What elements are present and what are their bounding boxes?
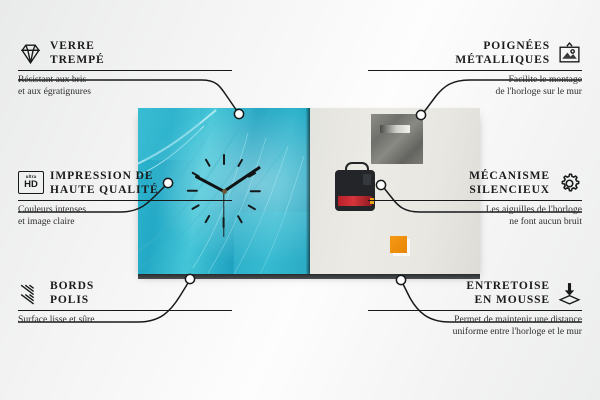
hanger-slot (380, 125, 410, 133)
battery (338, 196, 372, 206)
feature-title: VERRETREMPÉ (50, 40, 105, 67)
arrow-into-slab-icon (557, 281, 582, 306)
diamond-icon (18, 41, 43, 66)
feature-heading: MÉCANISMESILENCIEUX (368, 170, 582, 197)
feature-callout-mecanisme-silencieux: MÉCANISMESILENCIEUX Les aiguilles de l'h… (368, 170, 582, 228)
feature-title: ENTRETOISEEN MOUSSE (466, 280, 550, 307)
feature-rule (368, 310, 582, 311)
feature-heading: ultra HD IMPRESSION DEHAUTE QUALITÉ (18, 170, 232, 197)
feature-heading: ENTRETOISEEN MOUSSE (368, 280, 582, 307)
foam-spacer (390, 236, 407, 253)
feature-description: Résistant aux briset aux égratignures (18, 74, 232, 97)
feature-rule (18, 310, 232, 311)
feature-description: Facilite le montagede l'horloge sur le m… (368, 74, 582, 97)
feature-callout-entretoise-en-mousse: ENTRETOISEEN MOUSSE Permet de maintenir … (368, 280, 582, 338)
feature-heading: BORDSPOLIS (18, 280, 232, 307)
feature-description: Les aiguilles de l'horlogene font aucun … (368, 204, 582, 227)
feature-title: MÉCANISMESILENCIEUX (469, 170, 550, 197)
feature-title: POIGNÉESMÉTALLIQUES (455, 40, 550, 67)
feature-rule (18, 70, 232, 71)
feature-rule (18, 200, 232, 201)
feature-rule (368, 200, 582, 201)
polished-edges-icon (18, 281, 43, 306)
gear-icon (557, 171, 582, 196)
feature-callout-bords-polis: BORDSPOLIS Surface lisse et sûre (18, 280, 232, 326)
feature-description: Surface lisse et sûre (18, 314, 232, 326)
feature-description: Couleurs intenseset image claire (18, 204, 232, 227)
feature-title: IMPRESSION DEHAUTE QUALITÉ (50, 170, 159, 197)
mechanism-hanging-loop (345, 162, 369, 174)
feature-heading: POIGNÉESMÉTALLIQUES (368, 40, 582, 67)
feature-title: BORDSPOLIS (50, 280, 94, 307)
feature-callout-poignees-metalliques: POIGNÉESMÉTALLIQUES Facilite le montaged… (368, 40, 582, 98)
infographic-canvas: VERRETREMPÉ Résistant aux briset aux égr… (0, 0, 600, 400)
feature-callout-impression-haute-qualite: ultra HD IMPRESSION DEHAUTE QUALITÉ Coul… (18, 170, 232, 228)
metal-hanger-plate (371, 114, 423, 164)
ultra-hd-icon: ultra HD (18, 171, 43, 196)
picture-frame-hanger-icon (557, 41, 582, 66)
feature-heading: VERRETREMPÉ (18, 40, 232, 67)
feature-rule (368, 70, 582, 71)
feature-callout-verre-trempe: VERRETREMPÉ Résistant aux briset aux égr… (18, 40, 232, 98)
feature-description: Permet de maintenir une distanceuniforme… (368, 314, 582, 337)
